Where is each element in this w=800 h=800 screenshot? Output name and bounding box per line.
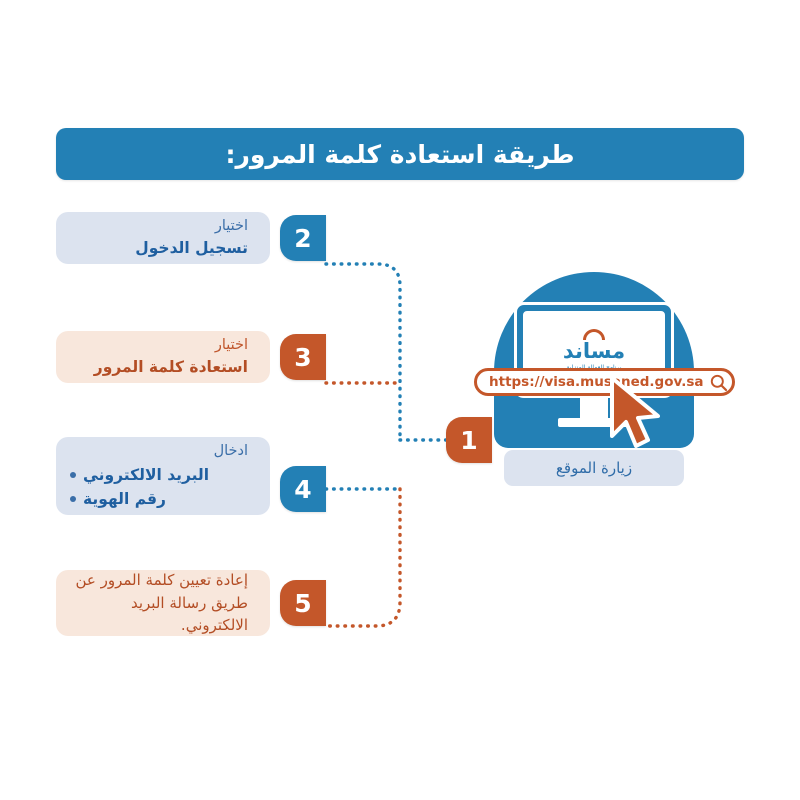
- step-box-4[interactable]: ادخال البريد الالكتروني رقم الهوية: [56, 437, 270, 515]
- step-badge-3: 3: [280, 334, 326, 380]
- illustration-caption: زيارة الموقع: [504, 450, 684, 486]
- step-5-line-1: إعادة تعيين كلمة المرور عن: [70, 569, 248, 592]
- website-illustration: مساند برنامج العمالة المنزلية https://vi…: [494, 272, 694, 448]
- step-2-line-1: تسجيل الدخول: [70, 237, 248, 260]
- arrow-cursor-icon: [606, 376, 670, 450]
- musaned-logo: مساند برنامج العمالة المنزلية: [563, 329, 625, 371]
- monitor-neck: [580, 398, 608, 418]
- list-item: البريد الالكتروني: [70, 463, 248, 487]
- step-4-bullet-1: البريد الالكتروني: [83, 463, 209, 487]
- step-3-header: اختيار: [70, 335, 248, 356]
- step-badge-2: 2: [280, 215, 326, 261]
- logo-wordmark: مساند: [563, 341, 625, 362]
- step-box-5[interactable]: إعادة تعيين كلمة المرور عن طريق رسالة ال…: [56, 570, 270, 636]
- step-box-3[interactable]: اختيار استعادة كلمة المرور: [56, 331, 270, 383]
- bullet-dot-icon: [70, 496, 76, 502]
- step-5-line-2: طريق رسالة البريد الالكتروني.: [70, 592, 248, 637]
- magnifier-icon[interactable]: [709, 373, 728, 392]
- step-badge-5: 5: [280, 580, 326, 626]
- step-4-bullet-2: رقم الهوية: [83, 487, 166, 511]
- bullet-dot-icon: [70, 472, 76, 478]
- url-text: https://visa.musaned.gov.sa: [489, 374, 703, 390]
- step-badge-4: 4: [280, 466, 326, 512]
- step-3-line-1: استعادة كلمة المرور: [70, 356, 248, 379]
- url-bar[interactable]: https://visa.musaned.gov.sa: [474, 368, 735, 396]
- step-badge-1: 1: [446, 417, 492, 463]
- list-item: رقم الهوية: [70, 487, 248, 511]
- step-4-header: ادخال: [70, 441, 248, 462]
- wire-step2: [326, 264, 400, 440]
- wire-step5: [326, 489, 400, 626]
- step-4-bullet-list: البريد الالكتروني رقم الهوية: [70, 463, 248, 511]
- step-2-header: اختيار: [70, 216, 248, 237]
- step-box-2[interactable]: اختيار تسجيل الدخول: [56, 212, 270, 264]
- infographic-canvas: طريقة استعادة كلمة المرور: اختيار تسجيل …: [0, 0, 800, 800]
